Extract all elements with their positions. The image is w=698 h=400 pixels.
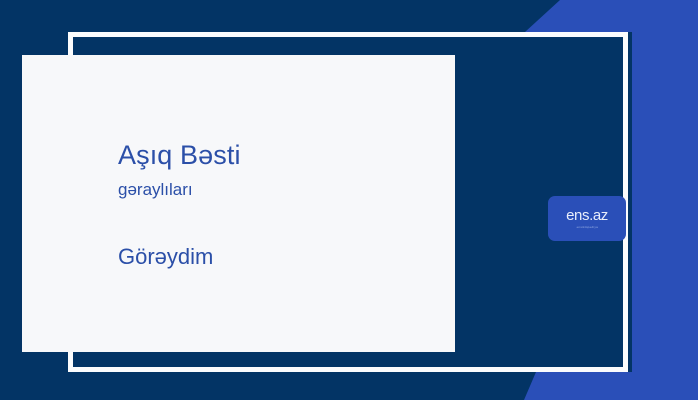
ens-az-logo-badge[interactable]: ens.az ensiklopediya (548, 196, 626, 241)
poem-title: Görəydim (118, 244, 448, 270)
page-title: Aşıq Bəsti (118, 140, 448, 170)
brand-wordmark: ens.az (566, 208, 608, 223)
slide-canvas: Aşıq Bəsti gəraylıları Görəydim ens.az e… (0, 0, 698, 400)
page-subtitle: gəraylıları (118, 180, 448, 200)
title-block: Aşıq Bəsti gəraylıları Görəydim (118, 140, 448, 270)
brand-tagline: ensiklopediya (576, 226, 597, 229)
